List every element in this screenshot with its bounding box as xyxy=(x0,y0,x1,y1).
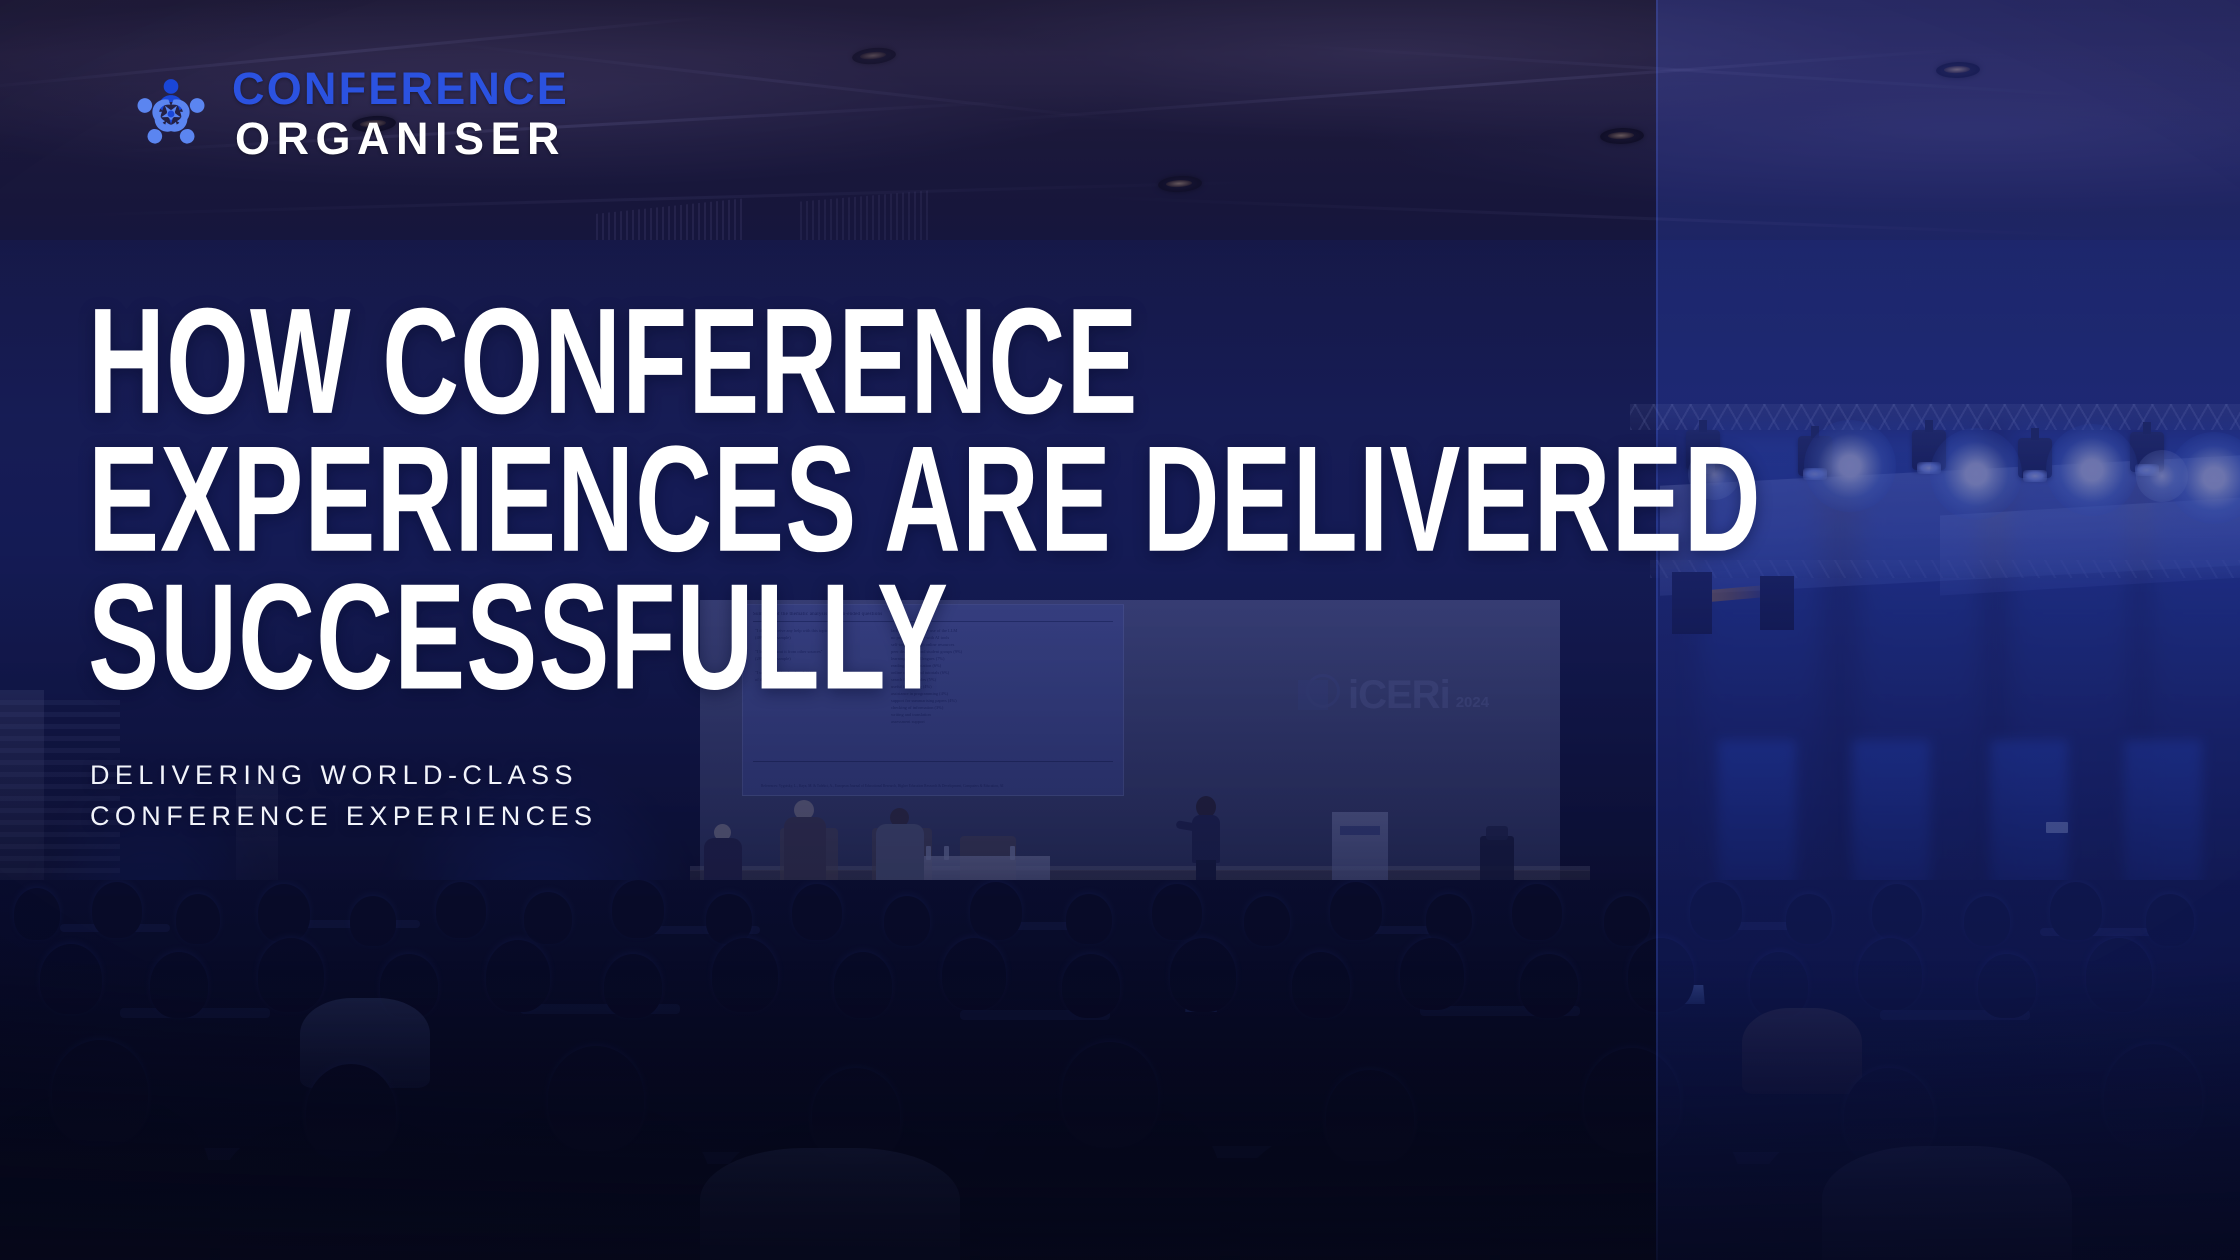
headline-line-1: HOW CONFERENCE xyxy=(88,292,1762,430)
brand-name-primary: CONFERENCE xyxy=(232,66,569,111)
banner-content: CONFERENCE ORGANISER HOW CONFERENCE EXPE… xyxy=(0,0,2240,1260)
page-subtitle: DELIVERING WORLD-CLASS CONFERENCE EXPERI… xyxy=(90,755,597,837)
subtitle-line-1: DELIVERING WORLD-CLASS xyxy=(90,755,597,796)
five-people-circle-icon xyxy=(128,71,214,157)
headline-line-3: SUCCESSFULLY xyxy=(88,568,1762,706)
brand-name-secondary: ORGANISER xyxy=(232,116,569,161)
brand-wordmark: CONFERENCE ORGANISER xyxy=(232,66,569,161)
subtitle-line-2: CONFERENCE EXPERIENCES xyxy=(90,796,597,837)
page-title: HOW CONFERENCE EXPERIENCES ARE DELIVERED… xyxy=(88,292,1762,705)
headline-line-2: EXPERIENCES ARE DELIVERED xyxy=(88,430,1762,568)
brand-logo[interactable]: CONFERENCE ORGANISER xyxy=(128,66,569,161)
conference-banner: Summary of the thematic analysis of open… xyxy=(0,0,2240,1260)
